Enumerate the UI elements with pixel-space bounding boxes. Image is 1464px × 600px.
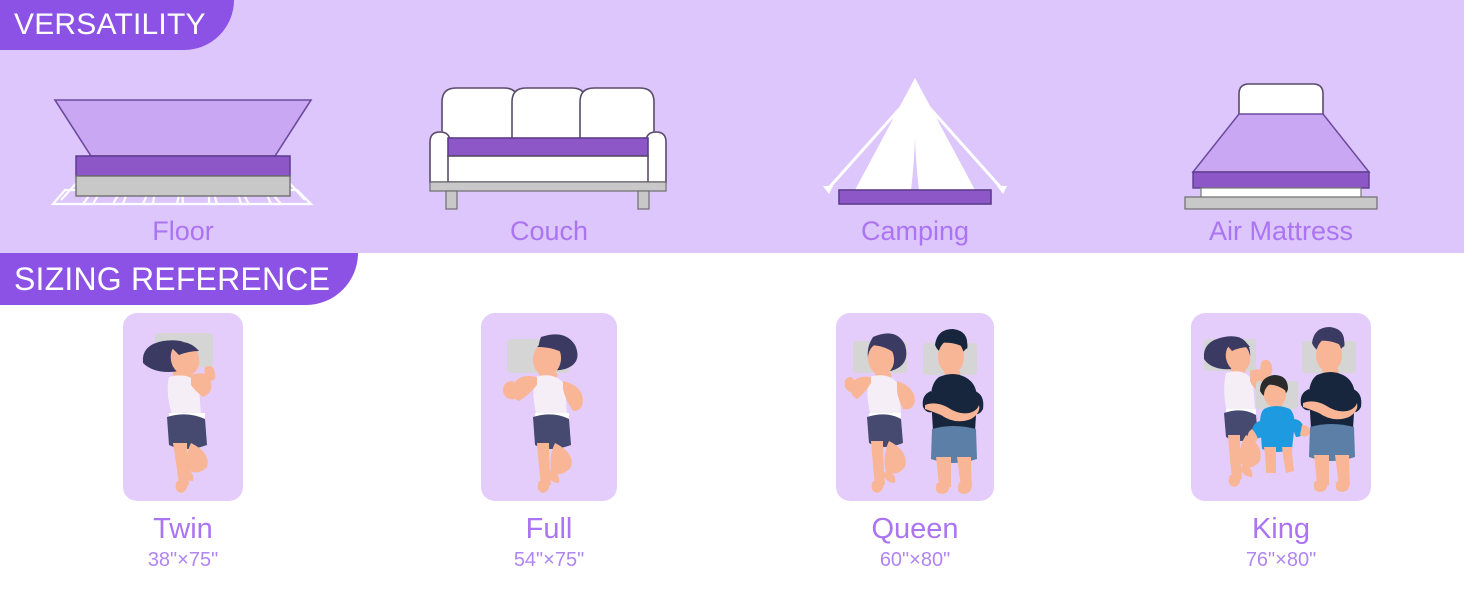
versatility-banner-label: VERSATILITY <box>14 8 206 42</box>
size-item-king: King 76"×80" <box>1098 313 1464 600</box>
versatility-item-couch: Couch <box>366 46 732 253</box>
versatility-section: VERSATILITY <box>0 0 1464 253</box>
size-name-twin: Twin <box>153 515 213 544</box>
size-name-queen: Queen <box>871 515 958 544</box>
versatility-label-air-mattress: Air Mattress <box>1209 218 1353 245</box>
sizing-banner-label: SIZING REFERENCE <box>14 261 330 298</box>
air-mattress-bed-icon <box>1171 72 1391 212</box>
sizing-items-row: Twin 38"×75" <box>0 313 1464 600</box>
versatility-banner: VERSATILITY <box>0 0 234 50</box>
sizing-section: SIZING REFERENCE <box>0 253 1464 600</box>
size-dims-full: 54"×75" <box>514 550 584 570</box>
size-item-twin: Twin 38"×75" <box>0 313 366 600</box>
floor-mattress-icon <box>43 72 323 212</box>
floor-mattress-art <box>43 72 323 212</box>
versatility-item-camping: Camping <box>732 46 1098 253</box>
twin-size-icon <box>129 319 237 495</box>
size-card-full <box>481 313 617 501</box>
size-dims-queen: 60"×80" <box>880 550 950 570</box>
couch-icon <box>424 72 674 212</box>
size-item-full: Full 54"×75" <box>366 313 732 600</box>
versatility-label-couch: Couch <box>510 218 588 245</box>
queen-size-icon <box>843 319 987 495</box>
mattress-infographic: VERSATILITY <box>0 0 1464 600</box>
size-name-full: Full <box>526 515 573 544</box>
versatility-item-air-mattress: Air Mattress <box>1098 46 1464 253</box>
size-card-king <box>1191 313 1371 501</box>
tent-art <box>815 72 1015 212</box>
size-item-queen: Queen 60"×80" <box>732 313 1098 600</box>
size-card-queen <box>836 313 994 501</box>
size-name-king: King <box>1252 515 1310 544</box>
tent-icon <box>815 72 1015 212</box>
size-dims-twin: 38"×75" <box>148 550 218 570</box>
versatility-items-row: Floor <box>0 46 1464 253</box>
size-dims-king: 76"×80" <box>1246 550 1316 570</box>
king-size-icon <box>1198 319 1364 495</box>
sizing-banner: SIZING REFERENCE <box>0 253 358 305</box>
versatility-item-floor: Floor <box>0 46 366 253</box>
air-mattress-art <box>1171 72 1391 212</box>
size-card-twin <box>123 313 243 501</box>
couch-art <box>424 72 674 212</box>
versatility-label-floor: Floor <box>152 218 214 245</box>
full-size-icon <box>489 319 609 495</box>
versatility-label-camping: Camping <box>861 218 969 245</box>
